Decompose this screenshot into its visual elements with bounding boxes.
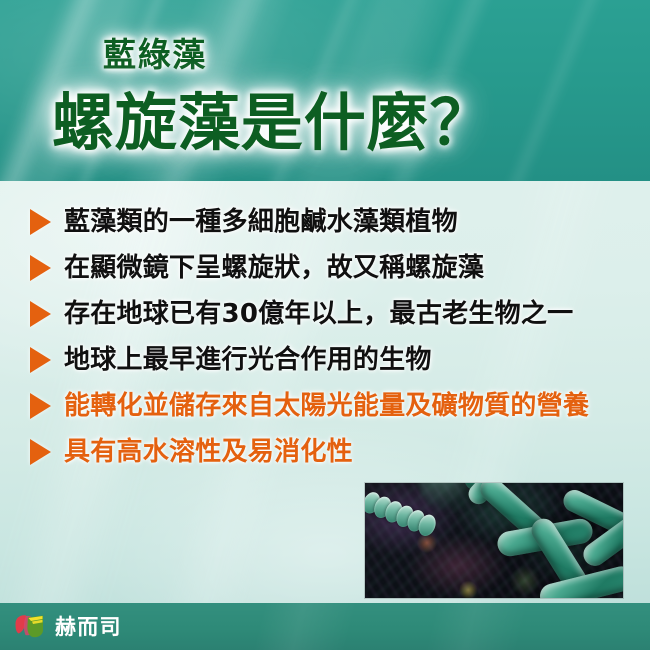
list-item: 地球上最早進行光合作用的生物 — [30, 343, 432, 377]
header-banner: 藍綠藻 螺旋藻是什麼？ — [0, 0, 650, 181]
content-area: 藍藻類的一種多細胞鹹水藻類植物 在顯微鏡下呈螺旋狀，故又稱螺旋藻 存在地球已有3… — [0, 181, 650, 603]
list-item-label: 藍藻類的一種多細胞鹹水藻類植物 — [64, 205, 458, 239]
list-item-label: 具有高水溶性及易消化性 — [64, 435, 353, 469]
triangle-bullet-icon — [30, 301, 51, 327]
list-item: 在顯微鏡下呈螺旋狀，故又稱螺旋藻 — [30, 251, 484, 285]
list-item-label: 存在地球已有30億年以上，最古老生物之一 — [64, 297, 573, 331]
infographic-poster: 藍綠藻 螺旋藻是什麼？ 藍藻類的一種多細胞鹹水藻類植物 在顯微鏡下呈螺旋狀，故又… — [0, 0, 650, 650]
list-item-label: 地球上最早進行光合作用的生物 — [64, 343, 432, 377]
header-light-streak — [473, 0, 626, 181]
brand-leaf-logo-icon — [13, 613, 49, 641]
triangle-bullet-icon — [30, 255, 51, 281]
triangle-bullet-icon — [30, 347, 51, 373]
triangle-bullet-icon — [30, 209, 51, 235]
list-item: 存在地球已有30億年以上，最古老生物之一 — [30, 297, 573, 331]
list-item-label: 在顯微鏡下呈螺旋狀，故又稱螺旋藻 — [64, 251, 484, 285]
brand-name: 赫而司 — [55, 613, 122, 641]
list-item: 具有高水溶性及易消化性 — [30, 435, 353, 469]
triangle-bullet-icon — [30, 439, 51, 465]
footer-bar: 赫而司 — [0, 603, 650, 650]
header-kicker: 藍綠藻 — [103, 34, 207, 76]
spirulina-microscope-photo — [365, 483, 623, 598]
list-item: 能轉化並儲存來自太陽光能量及礦物質的營養 — [30, 389, 589, 423]
list-item-label: 能轉化並儲存來自太陽光能量及礦物質的營養 — [64, 389, 589, 423]
list-item: 藍藻類的一種多細胞鹹水藻類植物 — [30, 205, 458, 239]
triangle-bullet-icon — [30, 393, 51, 419]
page-title: 螺旋藻是什麼？ — [52, 84, 493, 162]
